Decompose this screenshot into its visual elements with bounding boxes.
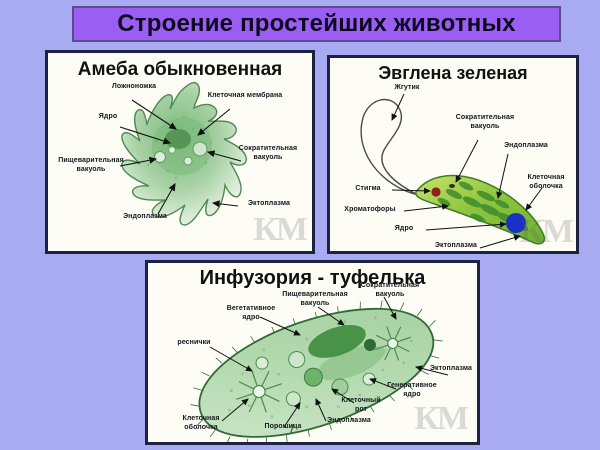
- euglena-flagellum: [361, 100, 418, 195]
- infusoria-label-endoplasm: Эндоплазма: [314, 417, 384, 426]
- infusoria-label-vegetative-nucleus: Вегетативное ядро: [210, 305, 292, 322]
- amoeba-label-nucleus: Ядро: [86, 113, 130, 122]
- slide-title-box: Строение простейших животных: [72, 6, 561, 42]
- infusoria-label-cell-mouth: Клеточный рот: [332, 397, 390, 414]
- euglena-label-endoplasm: Эндоплазма: [490, 142, 562, 151]
- panel-infusoria: Инфузория - туфелька: [145, 260, 480, 445]
- infusoria-label-cilia: реснички: [166, 339, 222, 348]
- euglena-label-flagellum: Жгутик: [382, 84, 432, 93]
- infusoria-label-cytopyge: Порошица: [252, 423, 314, 432]
- euglena-label-cell-envelope: Клеточная оболочка: [516, 174, 576, 191]
- infusoria-label-cell-envelope: Клеточная оболочка: [170, 415, 232, 432]
- infusoria-label-contractile-vacuole: Сократительная вакуоль: [348, 282, 432, 299]
- euglena-label-contractile-vacuole: Сократительная вакуоль: [442, 114, 528, 131]
- amoeba-label-pseudopod: Ложноножка: [96, 83, 172, 92]
- watermark: КМ: [414, 400, 467, 438]
- amoeba-label-digestive-vacuole: Пищеварительная вакуоль: [50, 157, 132, 174]
- euglena-label-ectoplasm: Эктоплазма: [422, 242, 490, 251]
- euglena-contractile-vacuole: [449, 184, 455, 188]
- amoeba-label-endoplasm: Эндоплазма: [110, 213, 180, 222]
- watermark: КМ: [253, 211, 306, 249]
- slide-title: Строение простейших животных: [117, 10, 515, 38]
- euglena-label-stigma: Стигма: [344, 185, 392, 194]
- amoeba-label-contractile-vacuole: Сократительная вакуоль: [226, 145, 310, 162]
- infusoria-label-ectoplasm: Эктоплазма: [422, 365, 480, 374]
- euglena-label-chromatophores: Хроматофоры: [334, 206, 406, 215]
- panel-amoeba: Амеба обыкновенная: [45, 50, 315, 254]
- amoeba-contractile-vacuole: [193, 142, 207, 156]
- slide-canvas: Строение простейших животных Амеба обыкн…: [0, 0, 600, 450]
- euglena-label-nucleus: Ядро: [382, 225, 426, 234]
- euglena-stigma: [431, 187, 440, 196]
- amoeba-label-cell-membrane: Клеточная мембрана: [190, 92, 300, 101]
- watermark: КМ: [519, 213, 572, 251]
- amoeba-label-ectoplasm: Эктоплазма: [234, 200, 304, 209]
- amoeba-nucleus: [165, 129, 191, 149]
- amoeba-digestive-vacuole: [155, 152, 166, 163]
- panel-euglena: Эвглена зеленая: [327, 55, 579, 254]
